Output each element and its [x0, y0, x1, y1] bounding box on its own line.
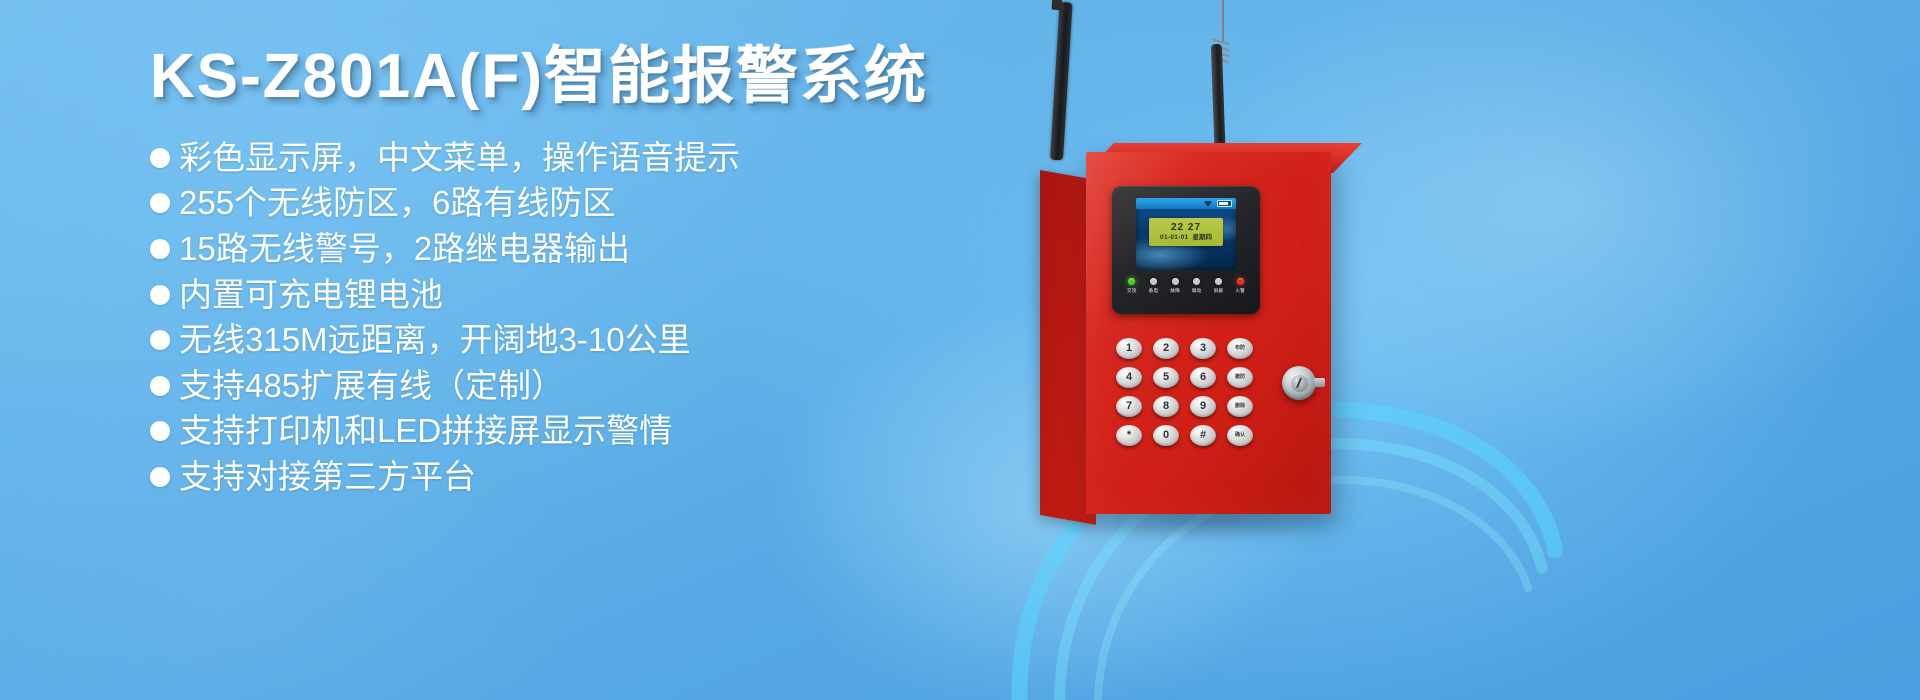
feature-text: 彩色显示屏，中文菜单，操作语音提示: [179, 135, 740, 181]
list-item: 内置可充电锂电池: [150, 272, 990, 318]
keypad-key-7[interactable]: 7: [1116, 396, 1142, 417]
feature-text: 内置可充电锂电池: [179, 272, 443, 318]
list-item: 15路无线警号，2路继电器输出: [150, 226, 990, 272]
bullet-dot-icon: [150, 330, 170, 350]
led-dot-icon: [1193, 278, 1200, 285]
keypad-key-arm[interactable]: 布防: [1227, 338, 1253, 359]
feature-list: 彩色显示屏，中文菜单，操作语音提示 255个无线防区，6路有线防区 15路无线警…: [150, 135, 990, 499]
led-indicator: 备电: [1149, 278, 1159, 294]
antenna-rod-tip: [1052, 0, 1063, 10]
keypad-key-5[interactable]: 5: [1153, 367, 1179, 388]
lock-tab: [1314, 378, 1325, 387]
lcd-info-panel: 22 27 01-01-01 星期四: [1149, 218, 1223, 246]
antenna-rod-icon: [1050, 2, 1073, 160]
feature-text: 255个无线防区，6路有线防区: [179, 180, 615, 226]
led-label: 火警: [1235, 288, 1245, 294]
battery-icon: [1217, 200, 1232, 207]
list-item: 支持打印机和LED拼接屏显示警情: [150, 408, 990, 454]
display-bezel: 22 27 01-01-01 星期四 交流 备电: [1112, 186, 1260, 314]
keypad-key-4[interactable]: 4: [1116, 367, 1142, 388]
led-indicator-row: 交流 备电 故障 联动: [1127, 278, 1245, 294]
keypad-key-0[interactable]: 0: [1153, 425, 1179, 446]
enclosure-front: 22 27 01-01-01 星期四 交流 备电: [1086, 152, 1331, 514]
bullet-dot-icon: [150, 193, 170, 213]
keypad-key-1[interactable]: 1: [1116, 338, 1142, 359]
keypad-key-9[interactable]: 9: [1190, 396, 1216, 417]
bullet-dot-icon: [150, 239, 170, 259]
alarm-control-panel-image: 22 27 01-01-01 星期四 交流 备电: [960, 0, 1920, 700]
led-indicator: 交流: [1127, 278, 1137, 294]
feature-text: 支持485扩展有线（定制）: [179, 363, 564, 409]
keypad-key-delete[interactable]: 删除: [1227, 396, 1253, 417]
list-item: 支持对接第三方平台: [150, 454, 990, 500]
lcd-weekday: 星期四: [1192, 235, 1212, 242]
lcd-status-bar: [1136, 198, 1236, 209]
led-indicator: 联动: [1192, 278, 1202, 294]
led-dot-icon: [1215, 278, 1222, 285]
lcd-date: 01-01-01: [1160, 235, 1188, 242]
lcd-screen[interactable]: 22 27 01-01-01 星期四: [1136, 198, 1236, 270]
bullet-dot-icon: [150, 421, 170, 441]
keypad-key-3[interactable]: 3: [1190, 338, 1216, 359]
keypad[interactable]: 1 2 3 布防 4 5 6 撤防 7 8 9 删除 * 0 # 确认: [1116, 338, 1256, 446]
keypad-key-8[interactable]: 8: [1153, 396, 1179, 417]
led-indicator: 火警: [1235, 278, 1245, 294]
keypad-key-confirm[interactable]: 确认: [1227, 425, 1253, 446]
keypad-key-6[interactable]: 6: [1190, 367, 1216, 388]
lock-keyhole: [1296, 378, 1302, 389]
page-title: KS-Z801A(F)智能报警系统: [150, 44, 990, 111]
bullet-dot-icon: [150, 285, 170, 305]
feature-text: 支持对接第三方平台: [179, 454, 476, 500]
product-banner: KS-Z801A(F)智能报警系统 彩色显示屏，中文菜单，操作语音提示 255个…: [0, 0, 1920, 700]
led-dot-icon: [1237, 278, 1244, 285]
lcd-date-row: 01-01-01 星期四: [1160, 235, 1212, 242]
led-dot-icon: [1150, 278, 1157, 285]
lcd-time: 22 27: [1171, 223, 1201, 233]
list-item: 支持485扩展有线（定制）: [150, 363, 990, 409]
keypad-key-disarm[interactable]: 撤防: [1227, 367, 1253, 388]
led-label: 联动: [1192, 288, 1202, 294]
bullet-dot-icon: [150, 148, 170, 168]
bullet-dot-icon: [150, 376, 170, 396]
led-dot-icon: [1172, 278, 1179, 285]
lock-cylinder-icon[interactable]: [1282, 366, 1316, 400]
feature-text: 无线315M远距离，开阔地3-10公里: [179, 317, 691, 363]
bullet-dot-icon: [150, 467, 170, 487]
list-item: 无线315M远距离，开阔地3-10公里: [150, 317, 990, 363]
copy-block: KS-Z801A(F)智能报警系统 彩色显示屏，中文菜单，操作语音提示 255个…: [150, 44, 990, 499]
led-label: 屏蔽: [1214, 288, 1224, 294]
led-label: 故障: [1170, 288, 1180, 294]
led-dot-icon: [1128, 278, 1135, 285]
keypad-key-hash[interactable]: #: [1190, 425, 1216, 446]
led-label: 备电: [1149, 288, 1159, 294]
list-item: 彩色显示屏，中文菜单，操作语音提示: [150, 135, 990, 181]
keypad-key-star[interactable]: *: [1116, 425, 1142, 446]
wifi-icon: [1204, 200, 1212, 207]
led-indicator: 屏蔽: [1214, 278, 1224, 294]
feature-text: 支持打印机和LED拼接屏显示警情: [179, 408, 672, 454]
led-indicator: 故障: [1170, 278, 1180, 294]
lock-core: [1291, 375, 1308, 392]
list-item: 255个无线防区，6路有线防区: [150, 180, 990, 226]
led-label: 交流: [1127, 288, 1137, 294]
feature-text: 15路无线警号，2路继电器输出: [179, 226, 630, 272]
keypad-key-2[interactable]: 2: [1153, 338, 1179, 359]
